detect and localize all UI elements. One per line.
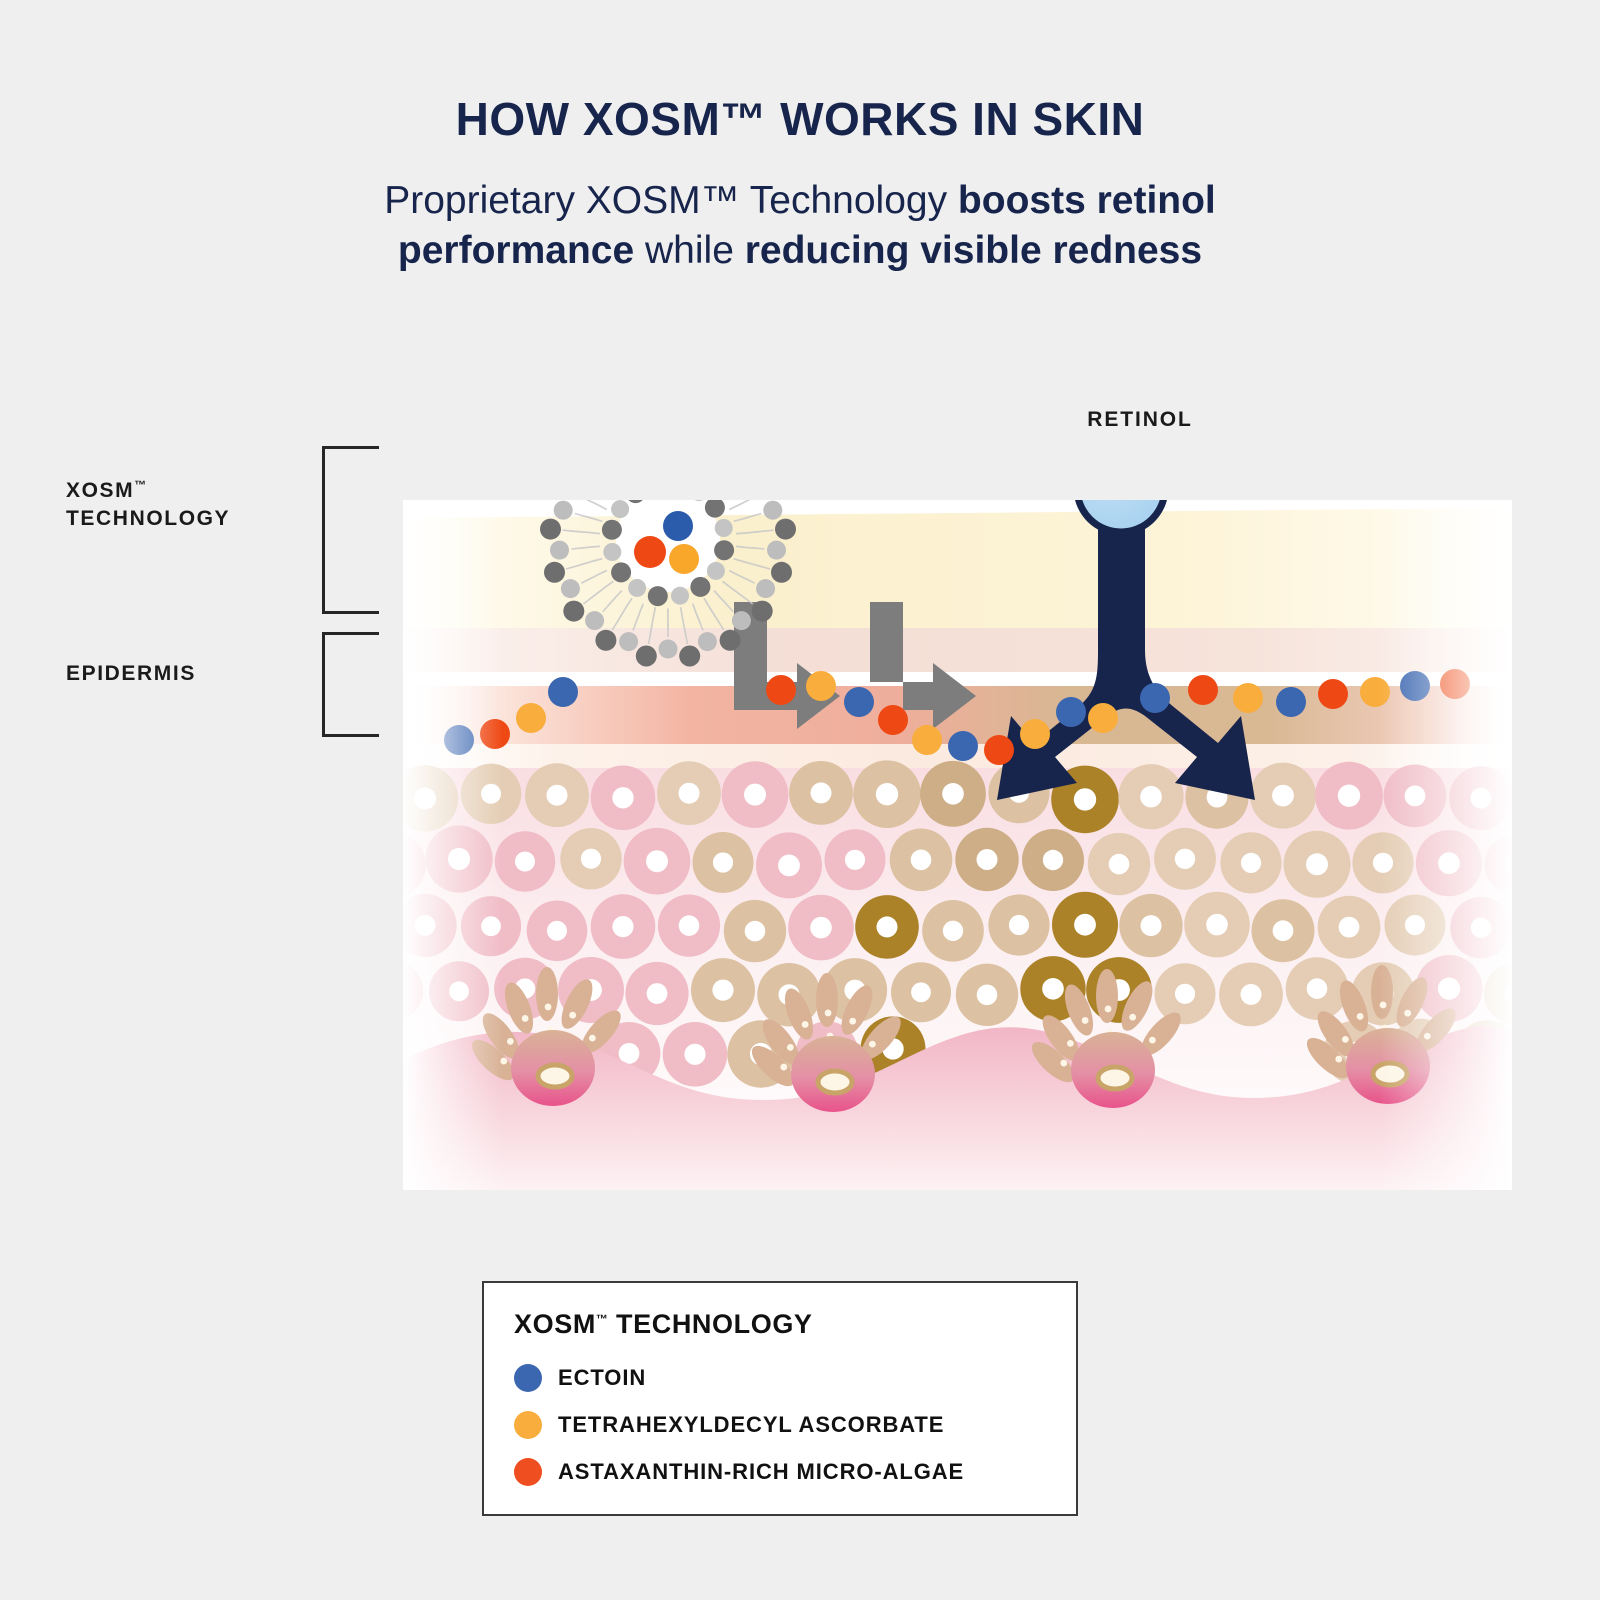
molecule-ascorbate (1020, 719, 1050, 749)
skin-cell-nucleus (810, 917, 832, 939)
skin-cell-nucleus (1206, 914, 1228, 936)
lipid-head-outer (756, 579, 775, 598)
lipid-head-inner (714, 540, 734, 560)
skin-cell-nucleus (744, 784, 766, 806)
melanosome (1380, 1002, 1387, 1009)
layer-label-xosm-technology: XOSM™ TECHNOLOGY (66, 477, 316, 532)
lipid-head-inner (648, 586, 668, 606)
skin-cell-nucleus (647, 983, 668, 1004)
skin-cell-nucleus (646, 850, 668, 872)
skin-cell-nucleus (1405, 786, 1426, 807)
lipid-head-outer (763, 501, 782, 520)
legend-swatch-ectoin (514, 1364, 542, 1392)
skin-cell-nucleus (1306, 853, 1328, 875)
lipid-head-outer (771, 562, 792, 583)
skin-cell-nucleus (1373, 853, 1393, 873)
melanosome (507, 1038, 514, 1045)
molecule-astaxanthin (480, 719, 510, 749)
legend-trademark-symbol: ™ (596, 1312, 608, 1326)
skin-cell-nucleus (481, 916, 501, 936)
melanosome (1067, 1040, 1074, 1047)
lipid-head-inner (715, 519, 733, 537)
skin-cell-nucleus (547, 785, 568, 806)
lipid-head-outer (544, 562, 565, 583)
page-subtitle: Proprietary XOSM™ Technology boosts reti… (280, 176, 1320, 276)
skin-cell-nucleus (1339, 917, 1360, 938)
skin-cell-nucleus (679, 915, 700, 936)
lipid-head-outer (732, 611, 751, 630)
lipid-head-outer (561, 579, 580, 598)
lipid-head-outer (775, 519, 796, 540)
skin-cell-nucleus (943, 921, 963, 941)
molecule-ectoin (844, 687, 874, 717)
lipid-head-outer (767, 541, 786, 560)
trademark-symbol: ™ (134, 478, 146, 492)
molecule-ectoin (1400, 671, 1430, 701)
skin-cell-nucleus (515, 852, 535, 872)
melanosome (569, 1012, 576, 1019)
lipid-tail (729, 500, 756, 510)
melanosome (869, 1041, 876, 1048)
subtitle-text-2: while (634, 229, 745, 272)
molecule-astaxanthin (984, 735, 1014, 765)
skin-cell-nucleus (1109, 854, 1130, 875)
molecule-astaxanthin (1318, 679, 1348, 709)
lipid-head-outer (720, 630, 741, 651)
layer-label-epidermis: EPIDERMIS (66, 660, 316, 688)
subtitle-bold-2: reducing visible redness (745, 229, 1202, 272)
lipid-head-inner (628, 579, 646, 597)
skin-cell-nucleus (1438, 852, 1460, 874)
melanosome (802, 1021, 809, 1028)
skin-cell-nucleus (942, 783, 964, 805)
legend-swatch-astaxanthin (514, 1458, 542, 1486)
page-title: HOW XOSM™ WORKS IN SKIN (0, 92, 1600, 146)
skin-cell-nucleus (1241, 853, 1261, 873)
lipid-head-outer (636, 646, 657, 667)
skin-cell-nucleus (778, 855, 800, 877)
skin-cell-nucleus (1471, 918, 1491, 938)
melanosome (1082, 1017, 1089, 1024)
melanocyte-nucleus (1098, 1067, 1132, 1089)
molecule-ectoin (548, 677, 578, 707)
molecule-astaxanthin (878, 705, 908, 735)
legend-label-ectoin: ECTOIN (558, 1365, 646, 1391)
lipid-head-inner (671, 587, 689, 605)
skin-cell-nucleus (1141, 915, 1162, 936)
melanocyte-dendrite (1371, 965, 1393, 1019)
skin-cell-nucleus (977, 985, 998, 1006)
melanosome (500, 1058, 507, 1065)
melanosome (1149, 1037, 1156, 1044)
infographic-root: HOW XOSM™ WORKS IN SKIN Proprietary XOSM… (0, 0, 1600, 1600)
molecule-ascorbate (806, 671, 836, 701)
lipid-head-inner (603, 543, 621, 561)
lipid-head-outer (550, 541, 569, 560)
melanosome (1342, 1036, 1349, 1043)
melanosome (1105, 1006, 1112, 1013)
lipid-head-inner (602, 520, 622, 540)
molecule-ascorbate (1360, 677, 1390, 707)
skin-cell-nucleus (876, 783, 898, 805)
molecule-astaxanthin (1440, 669, 1470, 699)
skin-cell-nucleus (1405, 915, 1425, 935)
lipid-head-outer (659, 640, 678, 659)
legend-item-astaxanthin: ASTAXANTHIN-RICH MICRO-ALGAE (514, 1448, 1076, 1495)
lipid-head-outer (554, 501, 573, 520)
molecule-ascorbate (1233, 683, 1263, 713)
molecule-ectoin (948, 731, 978, 761)
skin-cell-nucleus (712, 980, 733, 1001)
legend-item-ascorbate: TETRAHEXYLDECYL ASCORBATE (514, 1401, 1076, 1448)
skin-cell-nucleus (581, 849, 601, 869)
legend-swatch-ascorbate (514, 1411, 542, 1439)
melanosome (589, 1035, 596, 1042)
lipid-head-outer (540, 519, 561, 540)
melanocyte-dendrite (816, 973, 838, 1027)
melanocyte-nucleus (538, 1065, 572, 1087)
layer-label-xosm-text: XOSM (66, 479, 134, 502)
skin-cell-nucleus (745, 921, 766, 942)
legend-title: XOSM™ TECHNOLOGY (514, 1309, 1076, 1340)
lipid-head-outer (585, 611, 604, 630)
skin-cell-nucleus (612, 916, 633, 937)
skin-cell-nucleus (977, 849, 998, 870)
lipid-head-outer (679, 646, 700, 667)
skin-cell-nucleus (1241, 984, 1262, 1005)
skin-cell-nucleus (449, 981, 469, 1001)
layer-label-epidermis-text: EPIDERMIS (66, 662, 196, 685)
skin-cell-nucleus (415, 915, 436, 936)
skin-cross-section-panel (403, 500, 1512, 1190)
retinol-callout-label: RETINOL (970, 408, 1310, 432)
melanosome (1357, 1013, 1364, 1020)
lipid-head-inner (611, 562, 631, 582)
melanosome (787, 1044, 794, 1051)
molecule-ascorbate (1088, 703, 1118, 733)
legend-title-main: XOSM (514, 1309, 596, 1339)
melanosome (1404, 1010, 1411, 1017)
skin-cell-nucleus (1273, 920, 1294, 941)
skin-cell-nucleus (1338, 785, 1360, 807)
molecule-ascorbate (912, 725, 942, 755)
melanocyte-nucleus (1373, 1063, 1407, 1085)
molecule-ectoin-core (663, 511, 693, 541)
legend-label-astaxanthin: ASTAXANTHIN-RICH MICRO-ALGAE (558, 1459, 964, 1485)
skin-cell-nucleus (1175, 849, 1195, 869)
molecule-ectoin (444, 725, 474, 755)
skin-cell-nucleus (414, 788, 436, 810)
molecule-ectoin (1276, 687, 1306, 717)
skin-cell-nucleus (1074, 914, 1096, 936)
molecule-astaxanthin (766, 675, 796, 705)
skin-cell-nucleus (877, 916, 898, 937)
molecule-ectoin (1140, 683, 1170, 713)
legend-box: XOSM™ TECHNOLOGY ECTOIN TETRAHEXYLDECYL … (482, 1281, 1078, 1516)
bracket-xosm-technology (322, 446, 379, 614)
lipid-head-inner (707, 562, 725, 580)
skin-cell-nucleus (911, 850, 932, 871)
skin-cell-nucleus (1009, 915, 1029, 935)
bracket-epidermis (322, 632, 379, 737)
lipid-head-outer (595, 630, 616, 651)
skin-cell-nucleus (1043, 850, 1063, 870)
skin-cell-nucleus (612, 787, 633, 808)
lipid-tail (580, 500, 607, 510)
skin-cell-nucleus (481, 784, 501, 804)
melanocyte-dendrite (536, 967, 558, 1021)
melanosome (825, 1010, 832, 1017)
skin-cell-nucleus (448, 848, 470, 870)
skin-cell-nucleus (1307, 978, 1328, 999)
melanosome (1424, 1033, 1431, 1040)
melanosome (1335, 1056, 1342, 1063)
skin-cell-nucleus (911, 982, 931, 1002)
skin-cell-nucleus (1471, 788, 1492, 809)
melanosome (1060, 1060, 1067, 1067)
skin-cell-nucleus (684, 1044, 705, 1065)
skin-cell-nucleus (1438, 978, 1460, 1000)
legend-title-rest: TECHNOLOGY (608, 1309, 813, 1339)
molecule-ascorbate (516, 703, 546, 733)
subtitle-text-1: Proprietary XOSM™ Technology (384, 179, 958, 222)
skin-cell-nucleus (1272, 785, 1294, 807)
skin-cell-nucleus (1140, 786, 1162, 808)
lipid-head-outer (752, 601, 773, 622)
molecule-astaxanthin (1188, 675, 1218, 705)
molecule-ascorbate-core (669, 544, 699, 574)
melanosome (849, 1018, 856, 1025)
melanosome (780, 1064, 787, 1071)
layer-label-technology-text: TECHNOLOGY (66, 507, 230, 530)
molecule-ectoin (1056, 697, 1086, 727)
melanosome (522, 1015, 529, 1022)
melanocyte-dendrite (1096, 969, 1118, 1023)
legend-label-ascorbate: TETRAHEXYLDECYL ASCORBATE (558, 1412, 944, 1438)
skin-cell-nucleus (679, 783, 700, 804)
lipid-head-outer (563, 601, 584, 622)
skin-cell-nucleus (713, 852, 733, 872)
legend-item-ectoin: ECTOIN (514, 1354, 1076, 1401)
skin-layer-stratum-pink (403, 628, 1512, 674)
skin-cell-nucleus (1175, 984, 1195, 1004)
melanocyte-nucleus (818, 1071, 852, 1093)
melanosome (545, 1004, 552, 1011)
molecule-astaxanthin-core (634, 536, 666, 568)
lipid-head-outer (619, 632, 638, 651)
skin-cell-nucleus (547, 921, 567, 941)
skin-cell-nucleus (1042, 978, 1064, 1000)
lipid-head-outer (698, 632, 717, 651)
skin-cell-nucleus (811, 782, 832, 803)
melanosome (1129, 1014, 1136, 1021)
lipid-head-inner (690, 577, 710, 597)
skin-cell-nucleus (1074, 788, 1096, 810)
skin-cell-nucleus (845, 850, 865, 870)
lipid-head-inner (611, 500, 629, 518)
